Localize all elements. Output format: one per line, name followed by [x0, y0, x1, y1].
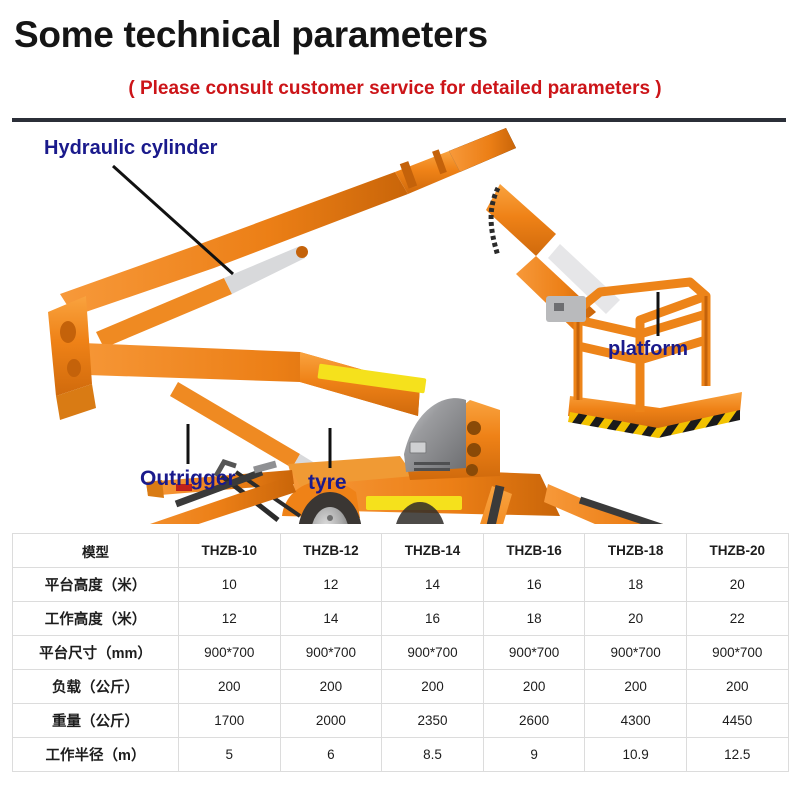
row-label: 负载（公斤）: [13, 670, 179, 704]
table-cell: 200: [280, 670, 382, 704]
table-cell: 900*700: [686, 636, 788, 670]
boom-lift-drawing: [0, 124, 800, 524]
table-cell: 200: [585, 670, 687, 704]
table-row: 重量（公斤） 1700 2000 2350 2600 4300 4450: [13, 704, 789, 738]
specification-table: 模型 THZB-10 THZB-12 THZB-14 THZB-16 THZB-…: [12, 533, 789, 772]
table-cell: 12: [280, 568, 382, 602]
table-cell: 2350: [382, 704, 484, 738]
table-cell: 900*700: [280, 636, 382, 670]
table-cell: 12.5: [686, 738, 788, 772]
table-cell: 5: [179, 738, 281, 772]
table-header-row: 模型 THZB-10 THZB-12 THZB-14 THZB-16 THZB-…: [13, 534, 789, 568]
table-row: 平台尺寸（mm） 900*700 900*700 900*700 900*700…: [13, 636, 789, 670]
turret-cowling: [404, 398, 500, 480]
table-cell: 12: [179, 602, 281, 636]
row-label: 平台尺寸（mm）: [13, 636, 179, 670]
table-row: 工作高度（米） 12 14 16 18 20 22: [13, 602, 789, 636]
row-label: 工作半径（m）: [13, 738, 179, 772]
table-cell: 200: [179, 670, 281, 704]
table-cell: 4450: [686, 704, 788, 738]
table-cell: 10.9: [585, 738, 687, 772]
page-subtitle: ( Please consult customer service for de…: [0, 78, 790, 100]
table-cell: 9: [483, 738, 585, 772]
table-cell: 22: [686, 602, 788, 636]
table-cell: 6: [280, 738, 382, 772]
table-cell: 18: [483, 602, 585, 636]
table-cell: 1700: [179, 704, 281, 738]
table-header-cell: THZB-12: [280, 534, 382, 568]
table-cell: 14: [280, 602, 382, 636]
table-cell: 900*700: [382, 636, 484, 670]
callout-label-platform: platform: [608, 339, 688, 359]
table-cell: 2600: [483, 704, 585, 738]
table-cell: 2000: [280, 704, 382, 738]
table-cell: 20: [686, 568, 788, 602]
table-header-cell: THZB-10: [179, 534, 281, 568]
table-cell: 16: [382, 602, 484, 636]
table-row: 工作半径（m） 5 6 8.5 9 10.9 12.5: [13, 738, 789, 772]
table-cell: 10: [179, 568, 281, 602]
work-platform: [546, 282, 742, 438]
table-cell: 900*700: [179, 636, 281, 670]
table-cell: 16: [483, 568, 585, 602]
product-illustration: [0, 124, 800, 524]
header-divider: [12, 118, 786, 122]
page-title: Some technical parameters: [14, 16, 488, 53]
table-cell: 200: [686, 670, 788, 704]
table-header-cell: THZB-20: [686, 534, 788, 568]
table-header-cell: THZB-18: [585, 534, 687, 568]
row-label: 工作高度（米）: [13, 602, 179, 636]
table-cell: 200: [483, 670, 585, 704]
boom-tower: [48, 296, 96, 420]
table-row: 负载（公斤） 200 200 200 200 200 200: [13, 670, 789, 704]
row-label: 重量（公斤）: [13, 704, 179, 738]
product-spec-page: Some technical parameters ( Please consu…: [0, 0, 800, 800]
spec-table-body: 模型 THZB-10 THZB-12 THZB-14 THZB-16 THZB-…: [13, 534, 789, 772]
table-row: 平台高度（米） 10 12 14 16 18 20: [13, 568, 789, 602]
row-label: 平台高度（米）: [13, 568, 179, 602]
table-cell: 4300: [585, 704, 687, 738]
table-cell: 14: [382, 568, 484, 602]
table-header-cell: THZB-14: [382, 534, 484, 568]
table-cell: 18: [585, 568, 687, 602]
table-cell: 200: [382, 670, 484, 704]
table-cell: 900*700: [483, 636, 585, 670]
table-cell: 20: [585, 602, 687, 636]
table-cell: 8.5: [382, 738, 484, 772]
outrigger-right-rear: [544, 484, 710, 524]
callout-label-tyre: tyre: [308, 472, 347, 493]
table-header-cell: 模型: [13, 534, 179, 568]
callout-label-hydraulic-cylinder: Hydraulic cylinder: [44, 138, 217, 158]
callout-label-outrigger: Outrigger: [140, 468, 236, 489]
lower-boom: [58, 342, 426, 416]
table-header-cell: THZB-16: [483, 534, 585, 568]
table-cell: 900*700: [585, 636, 687, 670]
